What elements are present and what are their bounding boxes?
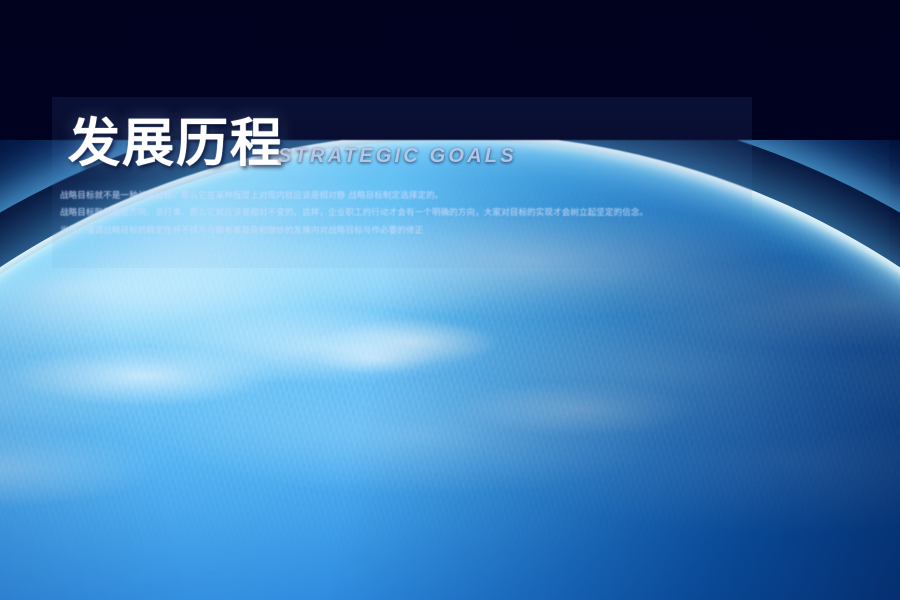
title-chinese: 发展历程 [68, 118, 284, 170]
description-line: 当然，强调战略目标的稳定性并不排斥与那有着复杂和微妙的发展内对战略目标与作必要的… [60, 223, 740, 240]
description-line: 战略目标就不是一种长期目标，那么它在某种程度上对现内就应该是相对静 战略目标制定… [60, 188, 740, 205]
description-block: 战略目标就不是一种长期目标，那么它在某种程度上对现内就应该是相对静 战略目标制定… [60, 188, 740, 240]
title-english-subtitle: STRATEGIC GOALS [278, 146, 517, 166]
hero-banner: 发展历程 STRATEGIC GOALS 战略目标就不是一种长期目标，那么它在某… [0, 0, 900, 600]
page-title: 发展历程 STRATEGIC GOALS [68, 118, 517, 170]
description-line: 战略目标既然是总方向、总行事、那么它就应该是相对不变的。这样，企业职工的行动才会… [60, 205, 740, 222]
